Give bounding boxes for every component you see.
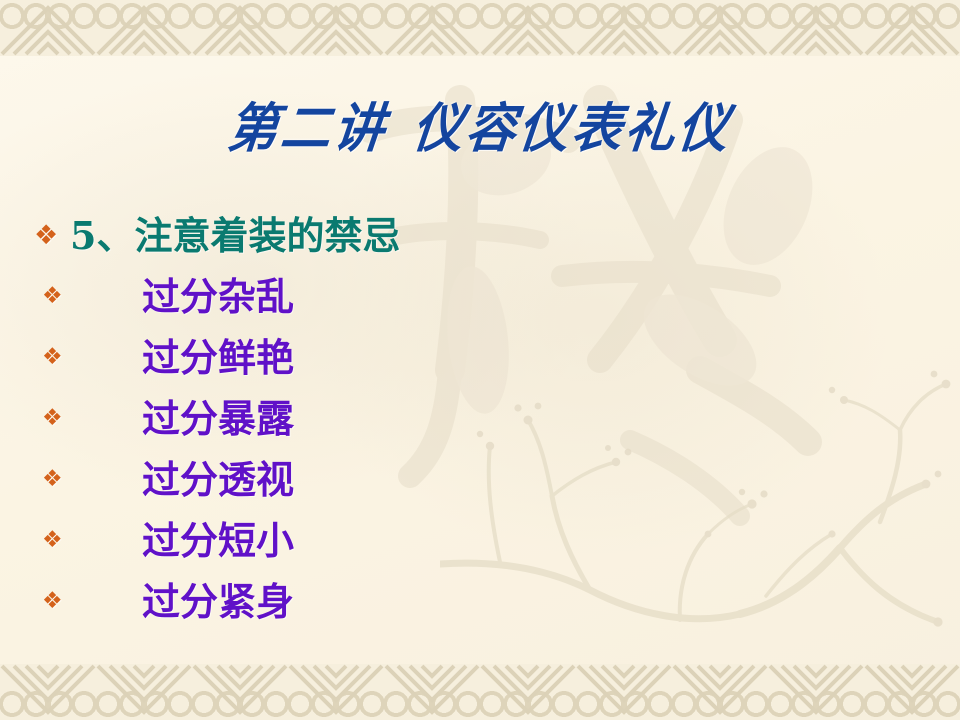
list-item-label: 过分短小 <box>142 522 294 560</box>
diamond-bullet-icon: ❖ <box>34 222 68 249</box>
list-item: ❖ 5、注意着装的禁忌 <box>34 205 734 266</box>
list-item-label: 5、注意着装的禁忌 <box>70 217 400 255</box>
diamond-bullet-icon: ❖ <box>42 285 76 308</box>
diamond-bullet-icon: ❖ <box>42 346 76 369</box>
border-triangle-pattern <box>0 664 960 720</box>
list-item: ❖ 过分紧身 <box>34 571 734 632</box>
diamond-bullet-icon: ❖ <box>42 468 76 491</box>
list-item-label: 过分紧身 <box>142 583 294 621</box>
top-decorative-border <box>0 0 960 56</box>
list-item-label: 过分杂乱 <box>142 278 294 316</box>
list-item: ❖ 过分鲜艳 <box>34 327 734 388</box>
list-item-label: 过分暴露 <box>142 400 294 438</box>
diamond-bullet-icon: ❖ <box>42 529 76 552</box>
bullet-list: ❖ 5、注意着装的禁忌 ❖ 过分杂乱 ❖ 过分鲜艳 ❖ 过分暴露 ❖ 过分透视 … <box>34 205 734 632</box>
diamond-bullet-icon: ❖ <box>42 590 76 613</box>
slide-title-part-1: 第二讲 <box>225 96 391 159</box>
bottom-decorative-border <box>0 664 960 720</box>
slide-title-part-2: 仪容仪表礼仪 <box>410 96 735 159</box>
list-item: ❖ 过分暴露 <box>34 388 734 449</box>
slide-title: 第二讲仪容仪表礼仪 <box>0 86 960 162</box>
list-item-label: 过分透视 <box>142 461 294 499</box>
list-item: ❖ 过分短小 <box>34 510 734 571</box>
border-triangle-pattern <box>0 0 960 56</box>
list-item-label: 过分鲜艳 <box>142 339 294 377</box>
diamond-bullet-icon: ❖ <box>42 407 76 430</box>
presentation-slide: 第二讲仪容仪表礼仪 ❖ 5、注意着装的禁忌 ❖ 过分杂乱 ❖ 过分鲜艳 ❖ 过分… <box>0 0 960 720</box>
list-item: ❖ 过分杂乱 <box>34 266 734 327</box>
list-item: ❖ 过分透视 <box>34 449 734 510</box>
